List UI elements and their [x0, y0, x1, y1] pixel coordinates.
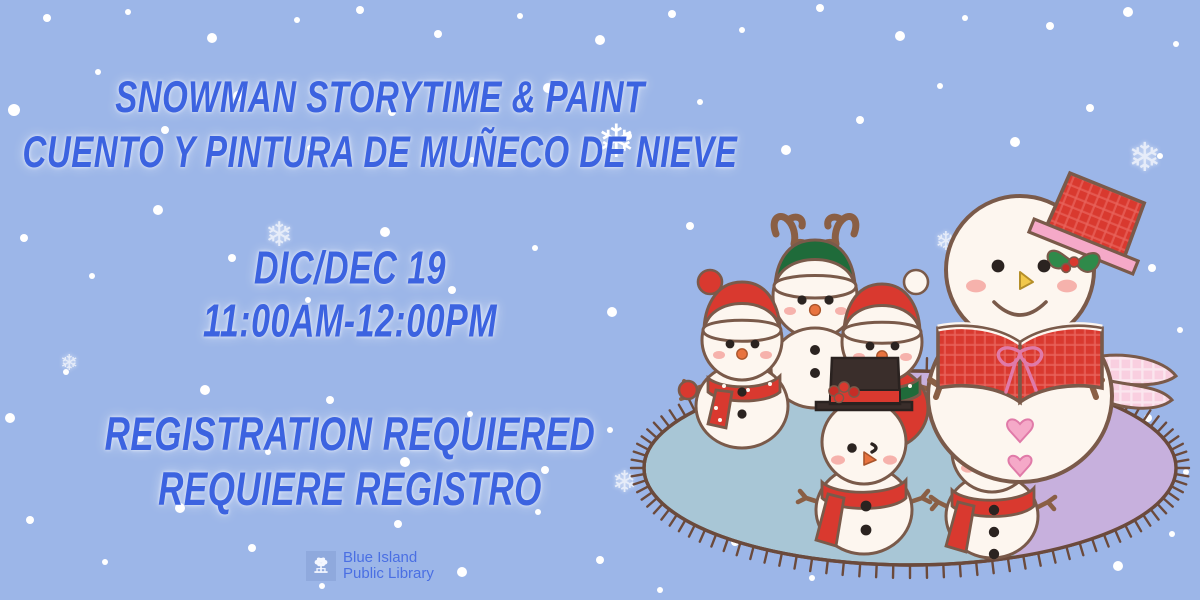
logo-line-1: Blue Island [343, 550, 434, 566]
snow-dot [1086, 104, 1094, 112]
snow-dot [1010, 137, 1020, 147]
registration-spanish: REQUIERE REGISTRO [0, 463, 700, 517]
snow-dot [1123, 7, 1133, 17]
snowflake-icon: ❄ [1128, 138, 1162, 178]
event-time: 11:00AM-12:00PM [0, 296, 700, 349]
snow-dot [781, 145, 791, 155]
snow-dot [937, 83, 943, 89]
registration-english: REGISTRATION REQUIERED [0, 408, 700, 462]
logo-text: Blue Island Public Library [343, 550, 434, 582]
snow-dot [816, 4, 824, 12]
title-english: SNOWMAN STORYTIME & PAINT [0, 71, 760, 122]
event-date: DIC/DEC 19 [0, 243, 700, 296]
tree-icon [306, 551, 336, 581]
library-logo: Blue Island Public Library [306, 550, 434, 582]
logo-line-2: Public Library [343, 566, 434, 582]
snow-dot [856, 116, 864, 124]
snow-dot [895, 31, 905, 41]
title-spanish: CUENTO Y PINTURA DE MUÑECO DE NIEVE [0, 126, 760, 177]
snow-dot [1173, 41, 1179, 47]
snow-dot [962, 15, 968, 21]
flyer-canvas: ❄❄❄❄❄❄ SNOWMAN STORYTIME & PAINT CUENTO … [0, 0, 1200, 600]
snow-dot [1046, 22, 1054, 30]
snowmen-scene [620, 210, 1200, 600]
